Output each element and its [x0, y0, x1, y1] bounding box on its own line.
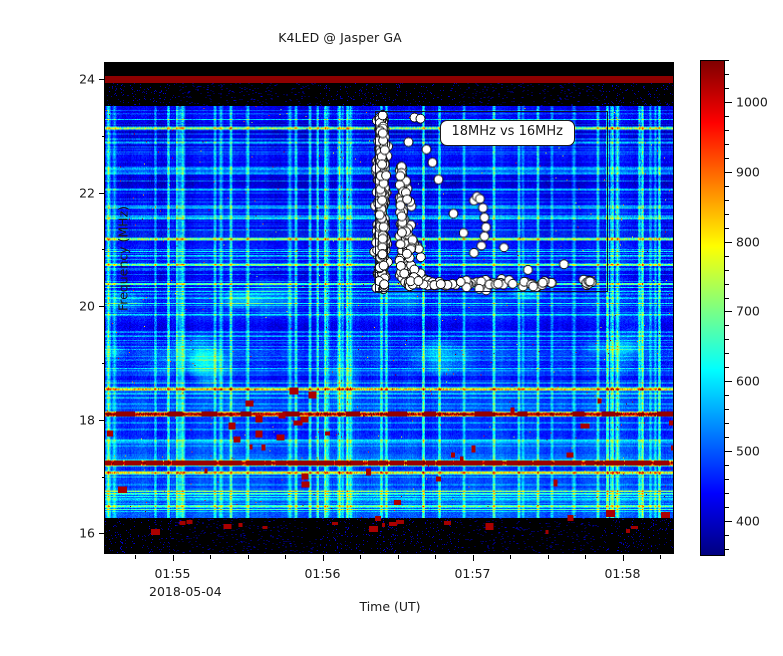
colorbar-tick-major	[725, 311, 732, 312]
colorbar-tick-minor	[725, 186, 729, 187]
x-tick-minor	[660, 555, 661, 559]
colorbar-tick-major	[725, 102, 732, 103]
y-tick-minor	[102, 477, 106, 478]
colorbar-tick-minor	[725, 88, 729, 89]
x-tick-major	[473, 555, 474, 561]
y-tick-minor	[102, 249, 106, 250]
colorbar-tick-minor	[725, 395, 729, 396]
y-tick-label: 22	[35, 185, 95, 200]
colorbar-tick-minor	[725, 130, 729, 131]
colorbar-tick-label: 1000	[736, 94, 768, 109]
colorbar-tick-label: 500	[736, 444, 760, 459]
colorbar-tick-minor	[725, 214, 729, 215]
colorbar-tick-minor	[725, 200, 729, 201]
colorbar-tick-label: 900	[736, 164, 760, 179]
y-tick-label: 20	[35, 299, 95, 314]
x-tick-label: 01:58	[593, 566, 653, 581]
x-tick-minor	[135, 555, 136, 559]
colorbar-tick-major	[725, 172, 732, 173]
colorbar-tick-minor	[725, 535, 729, 536]
x-tick-minor	[360, 555, 361, 559]
colorbar-tick-minor	[725, 298, 729, 299]
x-tick-minor	[510, 555, 511, 559]
x-tick-minor	[248, 555, 249, 559]
x-tick-major	[623, 555, 624, 561]
colorbar-tick-minor	[725, 437, 729, 438]
colorbar-tick-minor	[725, 409, 729, 410]
colorbar-tick-minor	[725, 367, 729, 368]
colorbar-tick-minor	[725, 465, 729, 466]
colorbar-tick-minor	[725, 144, 729, 145]
x-tick-label: 01:55	[143, 566, 203, 581]
page-title: K4LED @ Jasper GA	[0, 30, 680, 45]
colorbar-tick-major	[725, 381, 732, 382]
colorbar-tick-major	[725, 451, 732, 452]
colorbar-tick-minor	[725, 284, 729, 285]
x-axis-label: Time (UT)	[105, 599, 675, 614]
colorbar-tick-minor	[725, 74, 729, 75]
x-tick-minor	[285, 555, 286, 559]
y-tick-minor	[102, 363, 106, 364]
x-tick-minor	[210, 555, 211, 559]
y-tick-label: 24	[35, 71, 95, 86]
colorbar-tick-minor	[725, 228, 729, 229]
colorbar-tick-minor	[725, 60, 729, 61]
x-axis-date-label: 2018-05-04	[149, 584, 222, 599]
colorbar	[700, 60, 725, 556]
y-tick-major	[99, 306, 105, 307]
y-tick-major	[99, 533, 105, 534]
colorbar-tick-minor	[725, 325, 729, 326]
y-tick-minor	[102, 136, 106, 137]
colorbar-tick-label: 700	[736, 304, 760, 319]
annotation-label: 18MHz vs 16MHz	[440, 120, 575, 146]
colorbar-tick-minor	[725, 507, 729, 508]
y-tick-major	[99, 420, 105, 421]
colorbar-tick-minor	[725, 158, 729, 159]
colorbar-tick-minor	[725, 339, 729, 340]
x-tick-minor	[398, 555, 399, 559]
y-tick-label: 18	[35, 412, 95, 427]
y-tick-major	[99, 193, 105, 194]
x-tick-minor	[548, 555, 549, 559]
y-tick-label: 16	[35, 526, 95, 541]
colorbar-tick-minor	[725, 423, 729, 424]
colorbar-tick-minor	[725, 549, 729, 550]
colorbar-gradient	[701, 61, 724, 555]
spectrogram-figure: K4LED @ Jasper GA 18MHz vs 16MHz Frequen…	[0, 0, 783, 656]
colorbar-tick-minor	[725, 479, 729, 480]
x-tick-label: 01:56	[293, 566, 353, 581]
y-axis-label: Frequency (MHz)	[116, 179, 131, 339]
colorbar-tick-minor	[725, 493, 729, 494]
colorbar-tick-minor	[725, 116, 729, 117]
y-tick-major	[99, 79, 105, 80]
colorbar-tick-minor	[725, 270, 729, 271]
colorbar-tick-major	[725, 242, 732, 243]
colorbar-tick-label: 800	[736, 234, 760, 249]
x-tick-label: 01:57	[443, 566, 503, 581]
plot-axes: 18MHz vs 16MHz Frequency (MHz) Time (UT)…	[104, 62, 674, 554]
colorbar-tick-label: 400	[736, 514, 760, 529]
colorbar-tick-label: 600	[736, 374, 760, 389]
x-tick-minor	[435, 555, 436, 559]
x-tick-major	[173, 555, 174, 561]
colorbar-tick-minor	[725, 353, 729, 354]
x-tick-major	[323, 555, 324, 561]
x-tick-minor	[585, 555, 586, 559]
colorbar-tick-minor	[725, 256, 729, 257]
colorbar-tick-major	[725, 521, 732, 522]
